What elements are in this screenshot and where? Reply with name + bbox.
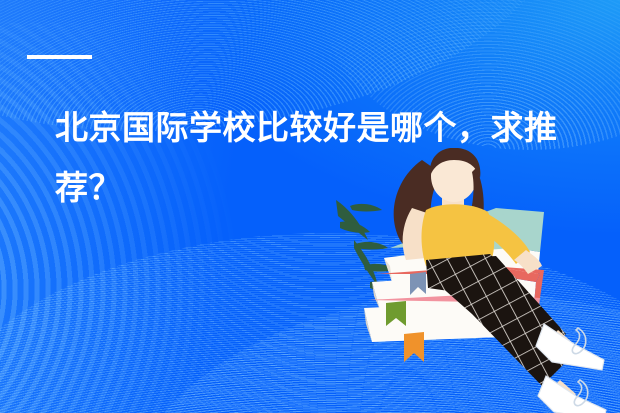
woman-sitting-on-books-illustration (330, 148, 620, 413)
plant-leaves (336, 200, 400, 293)
promo-banner: 北京国际学校比较好是哪个，求推荐？ (0, 0, 620, 413)
bookmark-orange (404, 332, 424, 362)
accent-bar (27, 55, 92, 59)
